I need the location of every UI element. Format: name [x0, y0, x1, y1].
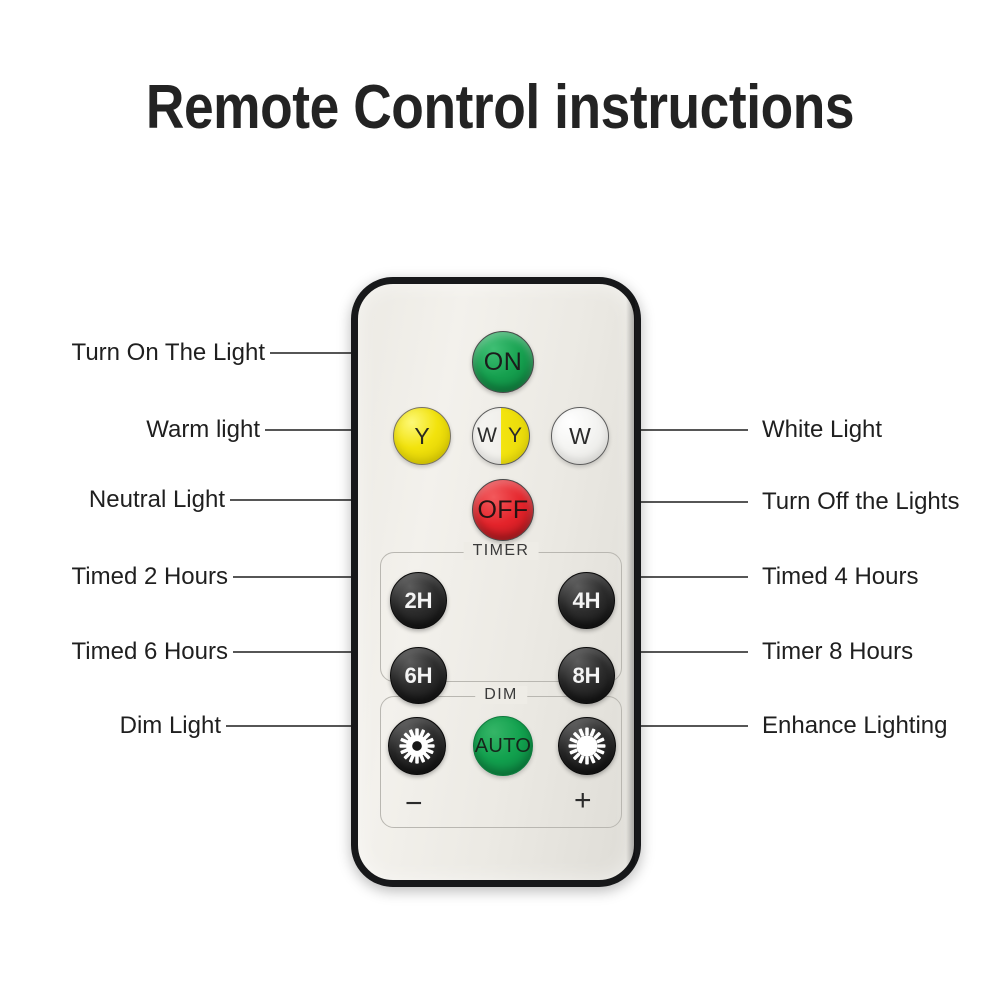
power-off-button[interactable]: OFF	[472, 479, 534, 541]
callout-turn-on-the-light: Turn On The Light	[0, 341, 265, 365]
auto-button[interactable]: AUTO	[473, 716, 533, 776]
power-on-button[interactable]: ON	[472, 331, 534, 393]
sun-bright-icon	[565, 724, 609, 768]
callout-warm-light: Warm light	[0, 418, 260, 442]
timer-6h-button[interactable]: 6H	[390, 647, 447, 704]
callout-turn-off-the-lights: Turn Off the Lights	[762, 490, 959, 514]
callout-neutral-light: Neutral Light	[0, 488, 225, 512]
callout-enhance-lighting: Enhance Lighting	[762, 714, 947, 738]
dim-down-button[interactable]	[388, 717, 446, 775]
timer-section-legend: TIMER	[464, 542, 539, 560]
remote-control-body: ON Y W Y W OFF TIMER 2H 4H 6H 8H DIM	[351, 277, 641, 887]
dim-plus-label: +	[574, 786, 592, 816]
callout-timed-4-hours: Timed 4 Hours	[762, 565, 919, 589]
dim-section-legend: DIM	[475, 686, 527, 704]
timer-2h-button[interactable]: 2H	[390, 572, 447, 629]
neutral-light-button[interactable]: W Y	[472, 407, 530, 465]
page-title: Remote Control instructions	[70, 72, 930, 143]
callout-timer-8-hours: Timer 8 Hours	[762, 640, 913, 664]
callout-dim-light: Dim Light	[0, 714, 221, 738]
white-light-button[interactable]: W	[551, 407, 609, 465]
dim-up-button[interactable]	[558, 717, 616, 775]
timer-4h-button[interactable]: 4H	[558, 572, 615, 629]
callout-white-light: White Light	[762, 418, 882, 442]
callout-timed-6-hours: Timed 6 Hours	[0, 640, 228, 664]
callout-timed-2-hours: Timed 2 Hours	[0, 565, 228, 589]
sun-dim-icon	[395, 724, 439, 768]
warm-light-button[interactable]: Y	[393, 407, 451, 465]
timer-8h-button[interactable]: 8H	[558, 647, 615, 704]
neutral-light-label-w: W	[473, 408, 501, 464]
dim-minus-label: −	[405, 789, 423, 819]
neutral-light-label-y: Y	[501, 408, 529, 464]
